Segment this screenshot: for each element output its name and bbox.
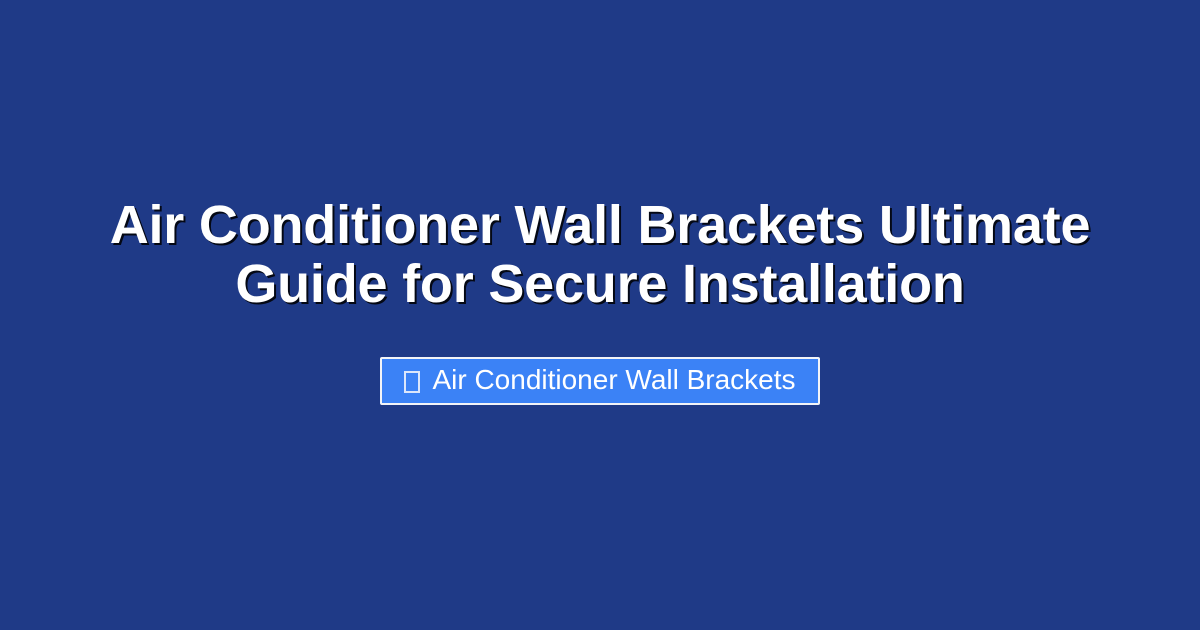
keyword-badge-label: Air Conditioner Wall Brackets <box>432 366 795 394</box>
page-title: Air Conditioner Wall Brackets Ultimate G… <box>40 196 1160 314</box>
keyword-badge-button[interactable]: Air Conditioner Wall Brackets <box>380 357 819 405</box>
hero-title-block: Air Conditioner Wall Brackets Ultimate G… <box>0 196 1200 314</box>
og-image-card: Air Conditioner Wall Brackets Ultimate G… <box>0 0 1200 630</box>
badge-row: Air Conditioner Wall Brackets <box>0 357 1200 405</box>
missing-glyph-tofu-icon <box>404 371 420 393</box>
